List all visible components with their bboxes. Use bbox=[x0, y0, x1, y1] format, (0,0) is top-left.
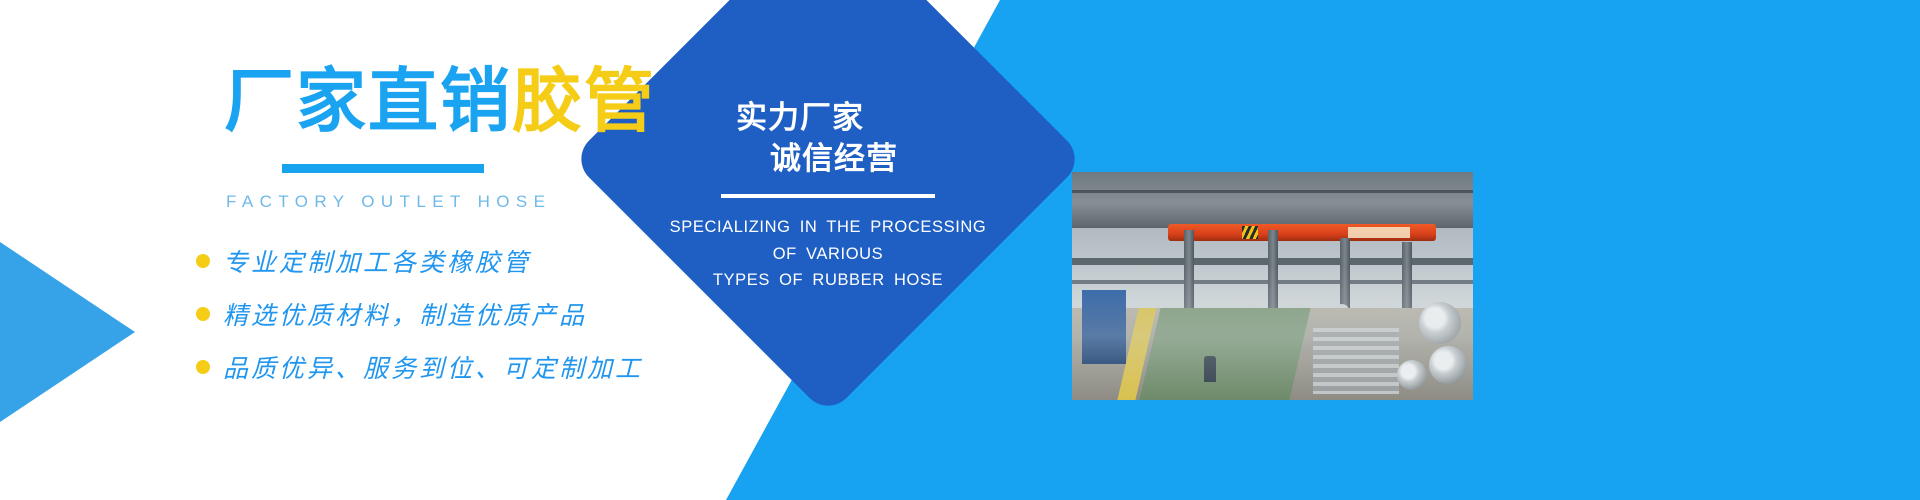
bullet-dot-icon bbox=[196, 254, 210, 268]
badge-chinese-slogan: 实力厂家 诚信经营 bbox=[758, 98, 898, 180]
headline-part-blue: 厂家直销 bbox=[224, 62, 512, 140]
feature-list: 专业定制加工各类橡胶管 精选优质材料，制造优质产品 品质优异、服务到位、可定制加… bbox=[196, 240, 643, 399]
badge-slogan-line-1: 实力厂家 bbox=[702, 98, 898, 139]
list-item-label: 专业定制加工各类橡胶管 bbox=[223, 243, 531, 279]
list-item-label: 精选优质材料，制造优质产品 bbox=[223, 296, 587, 332]
badge-english-line-2: OF VARIOUS bbox=[670, 241, 987, 268]
photo-atmospheric-haze bbox=[1072, 172, 1473, 400]
headline-block: 厂家直销胶管 FACTORY OUTLET HOSE 专业定制加工各类橡胶管 精… bbox=[0, 0, 660, 500]
subtitle-english: FACTORY OUTLET HOSE bbox=[226, 192, 551, 212]
badge-english-line-1: SPECIALIZING IN THE PROCESSING bbox=[670, 214, 987, 241]
diamond-badge-content: 实力厂家 诚信经营 SPECIALIZING IN THE PROCESSING… bbox=[646, 0, 1010, 341]
list-item: 专业定制加工各类橡胶管 bbox=[196, 240, 643, 282]
badge-english-text: SPECIALIZING IN THE PROCESSING OF VARIOU… bbox=[670, 214, 987, 294]
page-title: 厂家直销胶管 bbox=[224, 66, 656, 136]
headline-underline bbox=[282, 164, 484, 173]
factory-photo bbox=[1072, 172, 1473, 400]
badge-english-line-3: TYPES OF RUBBER HOSE bbox=[670, 267, 987, 294]
bullet-dot-icon bbox=[196, 307, 210, 321]
promo-banner: 厂家直销胶管 FACTORY OUTLET HOSE 专业定制加工各类橡胶管 精… bbox=[0, 0, 1920, 500]
headline-part-yellow: 胶管 bbox=[512, 62, 656, 140]
badge-slogan-line-2: 诚信经营 bbox=[770, 139, 898, 180]
badge-divider bbox=[721, 194, 935, 198]
list-item-label: 品质优异、服务到位、可定制加工 bbox=[223, 349, 643, 385]
list-item: 品质优异、服务到位、可定制加工 bbox=[196, 346, 643, 388]
list-item: 精选优质材料，制造优质产品 bbox=[196, 293, 643, 335]
bullet-dot-icon bbox=[196, 360, 210, 374]
